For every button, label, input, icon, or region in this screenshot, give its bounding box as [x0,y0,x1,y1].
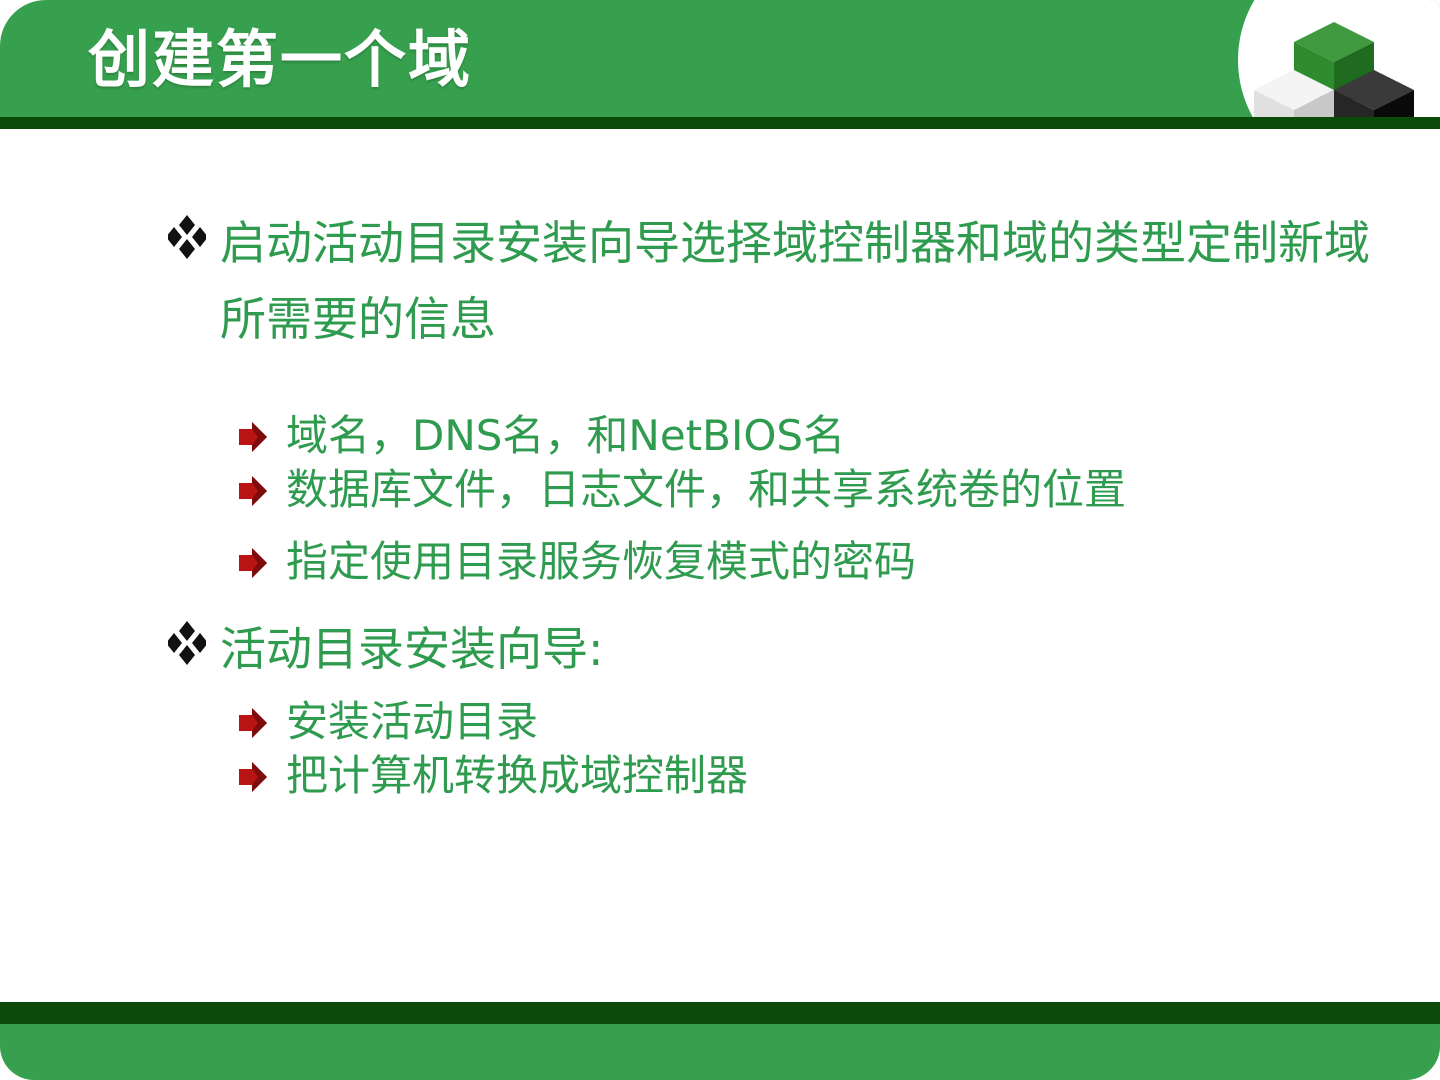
header-dark-stripe [0,117,1440,129]
red-arrow-bullet-icon [238,706,268,740]
bullet-item-level1: 启动活动目录安装向导选择域控制器和域的类型定制新域所需要的信息 [168,205,1398,357]
red-arrow-bullet-icon [238,760,268,794]
red-arrow-bullet-icon [238,420,268,454]
slide-header: 创建第一个域 [0,0,1440,118]
diamond-cluster-bullet-icon [168,213,206,259]
bullet-text: 启动活动目录安装向导选择域控制器和域的类型定制新域所需要的信息 [220,205,1398,357]
diamond-cluster-bullet-icon [168,619,206,665]
red-arrow-bullet-icon [238,546,268,580]
bullet-text: 指定使用目录服务恢复模式的密码 [286,533,916,591]
footer-dark-stripe [0,1002,1440,1024]
slide: 创建第一个域 启动活动目录安装向导选择域控制器和域的类型定制新域所需要的信息 [0,0,1440,1080]
bullet-text: 活动目录安装向导: [220,611,604,687]
bullet-text: 把计算机转换成域控制器 [286,747,748,805]
bullet-item-level2: 数据库文件，日志文件，和共享系统卷的位置 [238,461,1126,519]
cubes-logo-icon [1234,14,1434,118]
bullet-item-level2: 把计算机转换成域控制器 [238,747,748,805]
footer-green-band [0,1024,1440,1080]
bullet-text: 域名，DNS名，和NetBIOS名 [286,407,845,465]
bullet-item-level1: 活动目录安装向导: [168,611,604,687]
red-arrow-bullet-icon [238,474,268,508]
bullet-text: 安装活动目录 [286,693,538,751]
bullet-item-level2: 指定使用目录服务恢复模式的密码 [238,533,916,591]
bullet-item-level2: 安装活动目录 [238,693,538,751]
slide-content: 启动活动目录安装向导选择域控制器和域的类型定制新域所需要的信息 域名，DNS名，… [0,129,1440,1002]
page-title: 创建第一个域 [88,22,472,98]
bullet-text: 数据库文件，日志文件，和共享系统卷的位置 [286,461,1126,519]
bullet-item-level2: 域名，DNS名，和NetBIOS名 [238,407,845,465]
